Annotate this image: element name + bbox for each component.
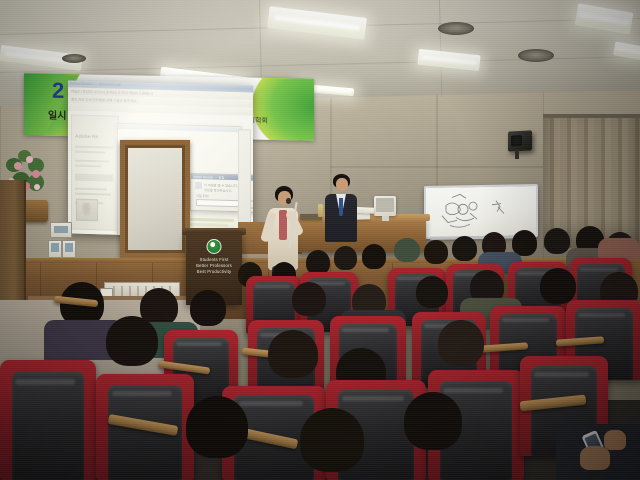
desktop-monitor: [374, 196, 396, 216]
audience-head: [186, 396, 248, 458]
audience-head: [268, 330, 318, 378]
audience-head: [292, 282, 326, 316]
hand-holding-phone: [580, 446, 610, 470]
audience-shoulders: [598, 238, 640, 260]
audience-head: [300, 408, 364, 472]
recessed-downlight: [62, 54, 86, 63]
university-crest-logo: [207, 239, 222, 254]
recessed-downlight: [518, 49, 554, 62]
wall-speaker: [508, 130, 532, 151]
audience-head: [106, 316, 158, 366]
speaker-bracket: [515, 150, 519, 159]
right-task-pane: [238, 129, 251, 231]
audience-head: [452, 236, 477, 261]
moderator-face: [336, 178, 348, 191]
audience-head: [190, 290, 226, 326]
audience-head: [540, 268, 576, 304]
app-title-text: Adobe Reader — document.pdf: [70, 81, 121, 86]
audience-head: [416, 276, 448, 308]
dialog-warning-icon: [195, 182, 202, 189]
audience-head: [404, 392, 462, 450]
auditorium-photo: 2 일시 술대회 한국건축환경설비학회 Adobe Reader — docum…: [0, 0, 640, 480]
wall-switch-right[interactable]: [62, 240, 76, 258]
hand-holding-phone: [604, 430, 626, 450]
wall-switch-left[interactable]: [48, 240, 62, 258]
wall-control-panel[interactable]: [50, 222, 72, 238]
child-window-titlebar: [118, 124, 241, 132]
microphone: [286, 198, 291, 204]
audience-head: [334, 246, 357, 270]
pdf-document-icon: [76, 199, 98, 222]
audience-head: [424, 240, 448, 264]
auditorium-seat: [0, 360, 96, 480]
recessed-downlight: [438, 22, 474, 35]
audience-head: [362, 244, 386, 269]
dialog-field-label: 파일 위치: [196, 193, 209, 198]
podium-line-3: Best Productivity: [186, 269, 242, 275]
wall-framed-panel: [120, 140, 190, 258]
document-sidebar: Adobe Re: [71, 115, 119, 231]
banner-number: 2: [52, 78, 63, 104]
audience-head-with-cap: [394, 238, 420, 262]
audience-head: [438, 320, 484, 366]
dialog-title: Adobe Reader — 알림: [193, 174, 224, 180]
audience-head: [544, 228, 570, 254]
sidebar-title: Adobe Re: [75, 134, 98, 141]
banner-date-label: 일시: [48, 107, 66, 122]
water-bottle: [318, 204, 323, 217]
dialog-message-2: 경로를 확인하십시오.: [204, 187, 232, 193]
